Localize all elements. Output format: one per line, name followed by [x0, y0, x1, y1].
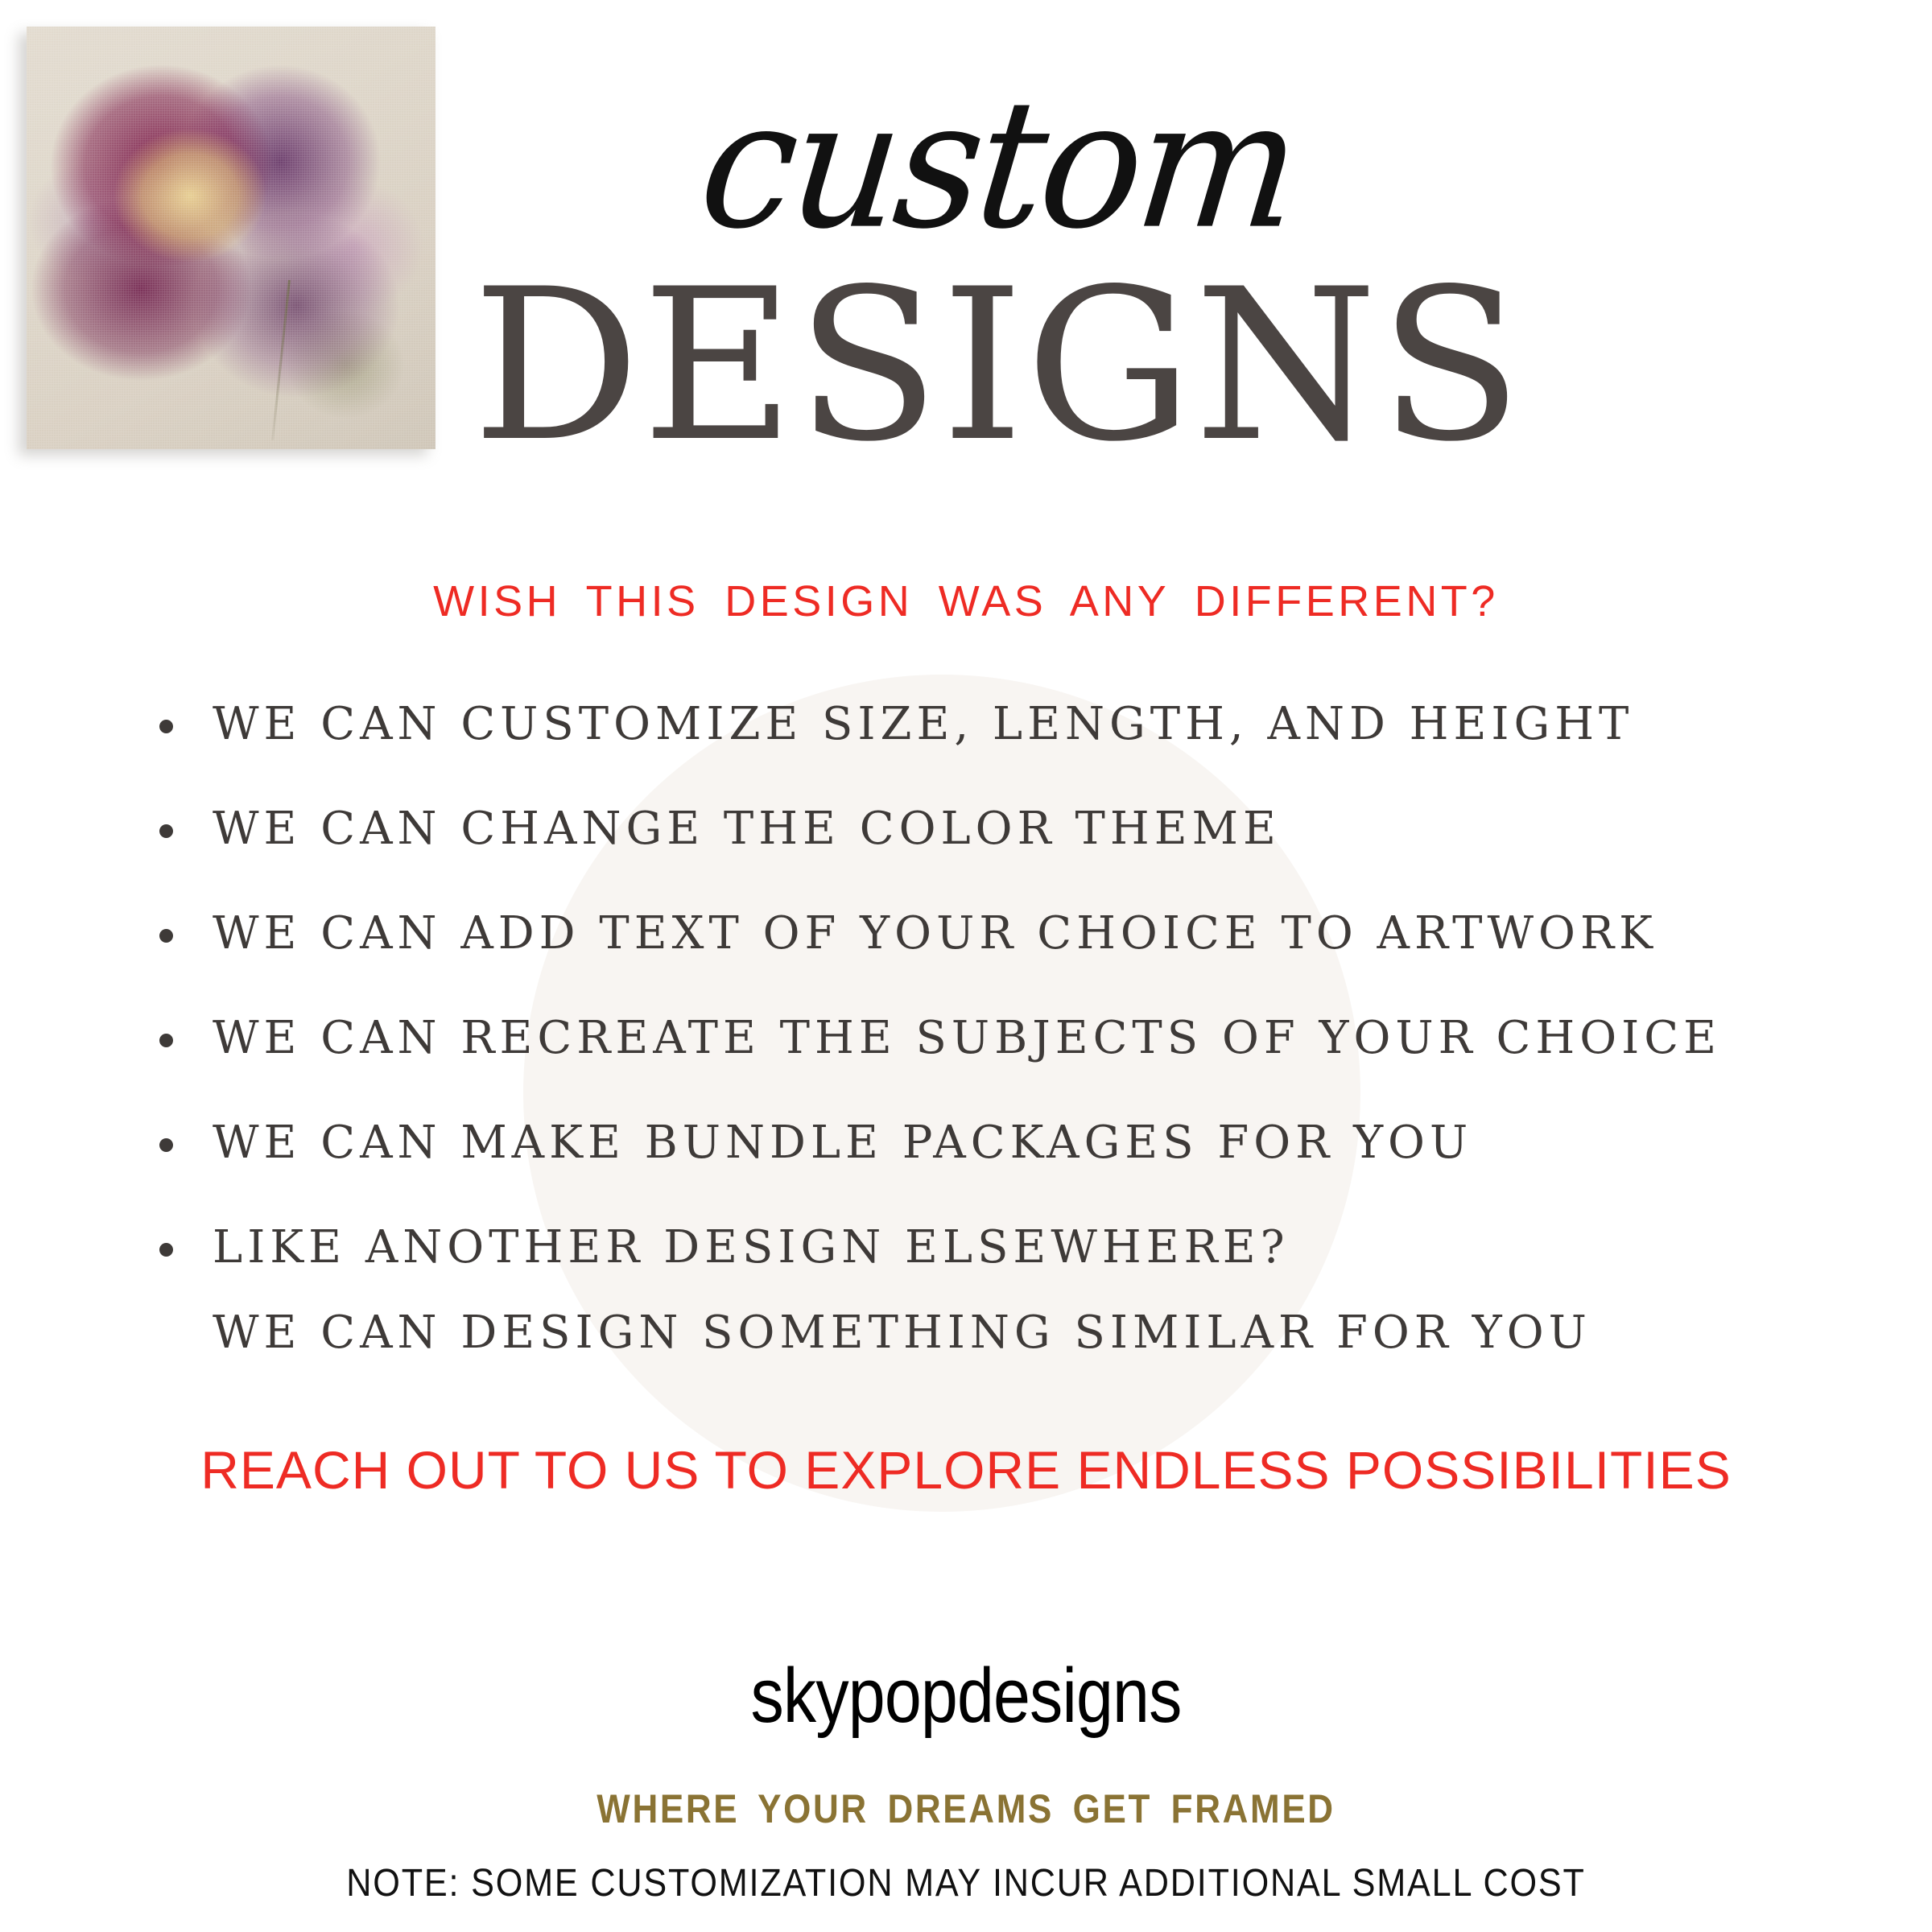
- list-item: LIKE ANOTHER DESIGN ELSEWHERE?: [153, 1225, 1843, 1270]
- call-to-action-text: REACH OUT TO US TO EXPLORE ENDLESS POSSI…: [0, 1439, 1932, 1501]
- artwork-thumbnail[interactable]: [27, 27, 436, 449]
- brand-name: skypopdesigns: [135, 1652, 1797, 1740]
- list-item-continuation: WE CAN DESIGN SOMETHING SIMILAR FOR YOU: [213, 1311, 1591, 1356]
- list-item: WE CAN CHANGE THE COLOR THEME: [153, 807, 1843, 852]
- subtitle-question: WISH THIS DESIGN WAS ANY DIFFERENT?: [0, 576, 1932, 626]
- brand-tagline: WHERE YOUR DREAMS GET FRAMED: [116, 1785, 1816, 1832]
- list-item: WE CAN RECREATE THE SUBJECTS OF YOUR CHO…: [153, 1016, 1843, 1061]
- title-script-word: custom: [425, 76, 1571, 254]
- list-item: WE CAN MAKE BUNDLE PACKAGES FOR YOU: [153, 1121, 1843, 1166]
- footer-note: NOTE: SOME CUSTOMIZATION MAY INCUR ADDIT…: [97, 1861, 1835, 1905]
- feature-list: WE CAN CUSTOMIZE SIZE, LENGTH, AND HEIGH…: [153, 702, 1843, 1330]
- list-item: WE CAN CUSTOMIZE SIZE, LENGTH, AND HEIGH…: [153, 702, 1843, 747]
- poster-header: custom DESIGNS: [435, 80, 1562, 469]
- page-title: DESIGNS: [435, 264, 1562, 469]
- canvas-texture-overlay: [27, 27, 436, 449]
- promo-poster: custom DESIGNS WISH THIS DESIGN WAS ANY …: [0, 0, 1932, 1932]
- list-item: WE CAN ADD TEXT OF YOUR CHOICE TO ARTWOR…: [153, 911, 1843, 956]
